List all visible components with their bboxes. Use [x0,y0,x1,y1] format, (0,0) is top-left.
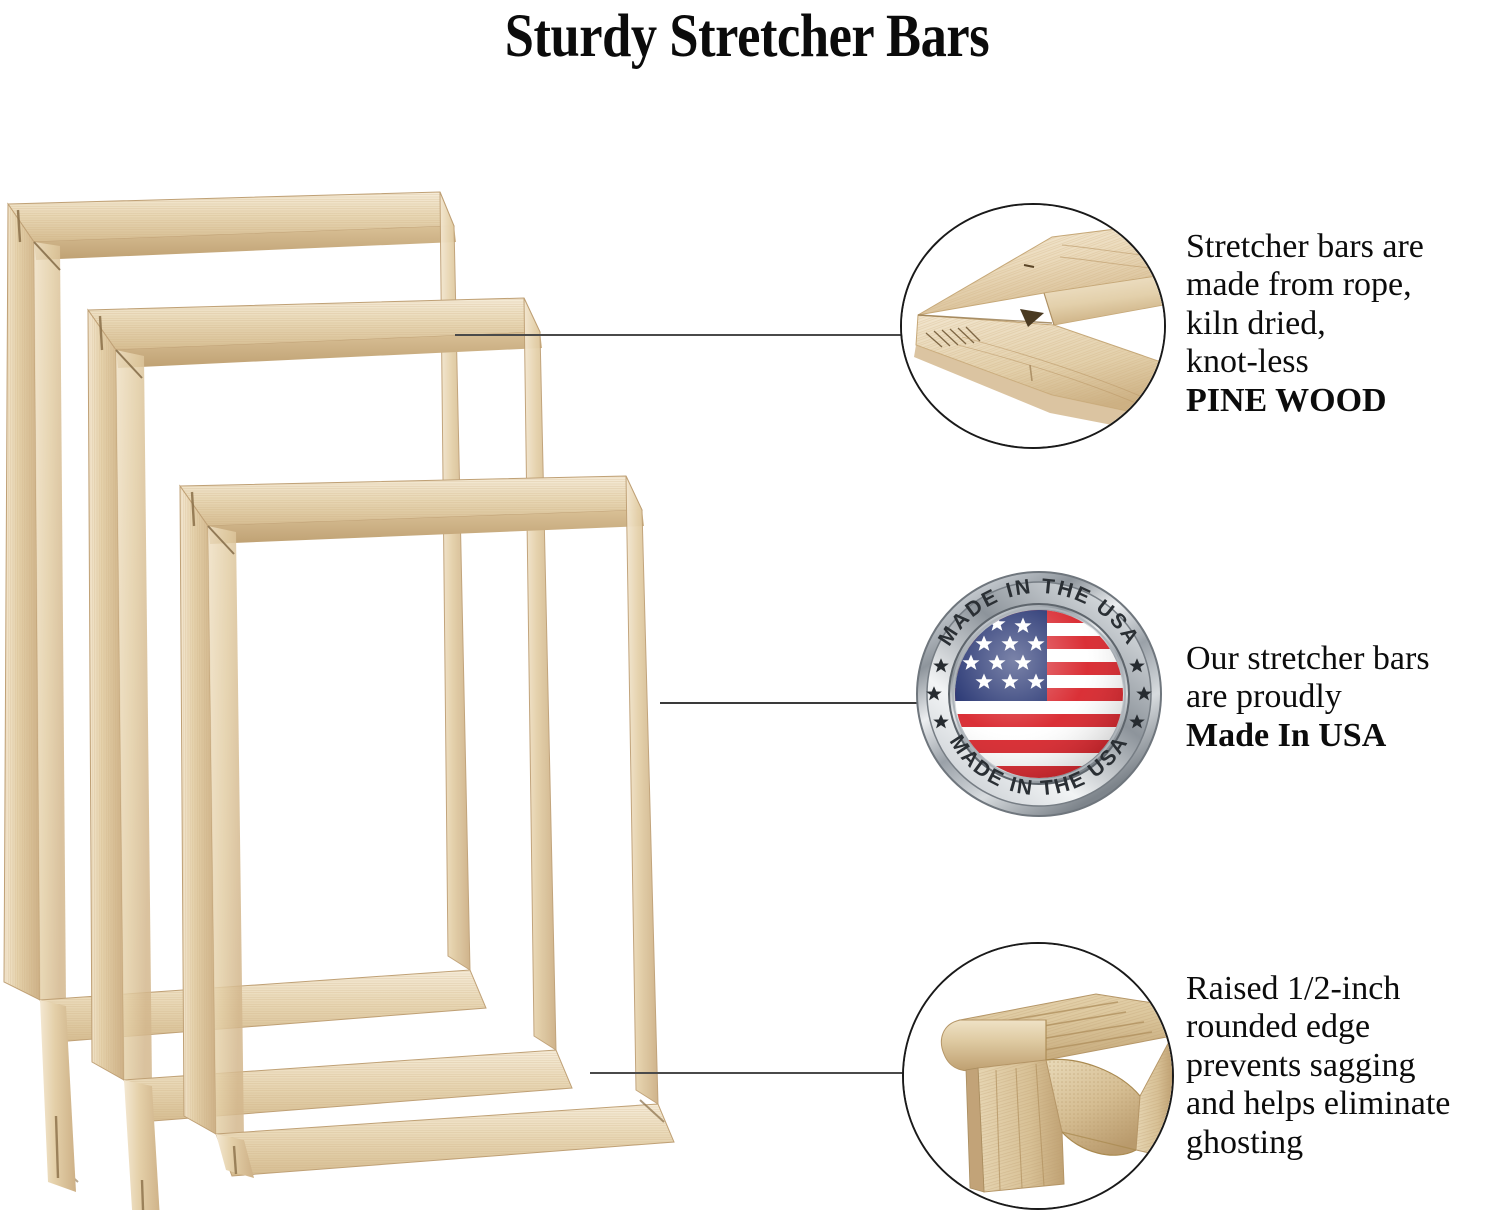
callout-emphasis: PINE WOOD [1186,382,1424,420]
callout-line: and helps eliminate [1186,1085,1450,1123]
made-in-usa-badge: MADE IN THE USA MADE IN THE USA [915,570,1163,818]
callout-emphasis: Made In USA [1186,717,1430,755]
callout-line: Our stretcher bars [1186,640,1430,678]
callout-text-rounded-edge: Raised 1/2-inch rounded edge prevents sa… [1186,970,1450,1162]
leader-line-rounded-edge [590,1072,908,1074]
callout-line: ghosting [1186,1124,1450,1162]
callout-line: made from rope, [1186,266,1424,304]
page-title: Sturdy Stretcher Bars [105,2,1390,72]
callout-line: are proudly [1186,678,1430,716]
callout-line: kiln dried, [1186,305,1424,343]
callout-line: knot-less [1186,343,1424,381]
callout-line: prevents sagging [1186,1047,1450,1085]
stretcher-frame-medium [88,298,572,1210]
callout-line: Stretcher bars are [1186,228,1424,266]
leader-line-pine-wood [455,334,905,336]
rounded-edge-profile-photo [902,942,1174,1210]
product-photo [0,170,720,1206]
callout-text-pine-wood: Stretcher bars are made from rope, kiln … [1186,228,1424,420]
leader-line-made-in-usa [660,702,925,704]
callout-text-made-in-usa: Our stretcher bars are proudly Made In U… [1186,640,1430,755]
callout-line: Raised 1/2-inch [1186,970,1450,1008]
mitered-corner-joint-photo [900,203,1166,449]
callout-line: rounded edge [1186,1008,1450,1046]
